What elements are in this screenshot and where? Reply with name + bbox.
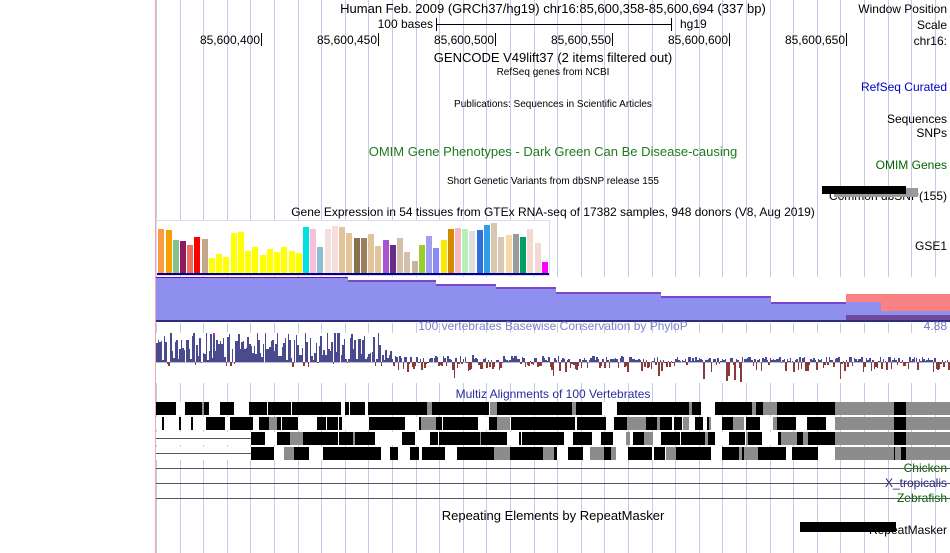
gtex-tissue-bar[interactable] <box>498 237 504 273</box>
gtex-tissue-bar[interactable] <box>397 238 403 273</box>
multiz-alignment-block <box>731 432 745 445</box>
multiz-alignment-block <box>553 432 564 445</box>
multiz-alignment-block <box>729 447 739 460</box>
multiz-alignment-block <box>473 417 478 430</box>
gtex-tissue-bar[interactable] <box>491 223 497 273</box>
multiz-row-rhesus[interactable] <box>156 402 950 415</box>
multiz-alignment-block <box>289 417 299 430</box>
conservation-peak-cap <box>277 333 279 335</box>
conservation-bar-positive <box>285 338 287 362</box>
conservation-bar-negative <box>886 362 888 370</box>
multiz-alignment-block <box>777 402 790 415</box>
multiz-alignment-block <box>522 432 534 445</box>
scale-text: 100 bases <box>156 18 433 31</box>
multiz-alignment-block <box>543 417 552 430</box>
dbsnp-feature-block[interactable] <box>822 186 906 194</box>
multiz-alignment-block <box>722 447 729 460</box>
multiz-alignment-block <box>626 432 630 445</box>
multiz-alignment-block <box>284 447 294 460</box>
multiz-alignment-block <box>220 402 233 415</box>
multiz-alignment-block <box>719 402 733 415</box>
multiz-alignment-block <box>466 447 473 460</box>
multiz-alignment-block <box>589 417 602 430</box>
multiz-alignment-block <box>763 402 777 415</box>
conservation-bar-positive <box>199 338 201 362</box>
h3k27ac-segment-top-line <box>496 287 556 289</box>
conservation-bar-positive <box>302 348 304 362</box>
conservation-bar-negative <box>458 362 460 364</box>
multiz-alignment-block <box>805 447 818 460</box>
multiz-alignment-block <box>369 432 375 445</box>
gtex-tissue-bar[interactable] <box>484 225 490 273</box>
conservation-bar-negative <box>781 362 783 363</box>
multiz-alignment-block <box>733 402 746 415</box>
h3k27ac-signal-track[interactable] <box>156 277 950 323</box>
gtex-tissue-bar[interactable] <box>267 249 273 273</box>
multiz-alignment-block <box>816 417 827 430</box>
track-label-refseq-curated[interactable]: RefSeq Curated <box>795 81 950 94</box>
track-label-gse1[interactable]: GSE1 <box>795 240 950 253</box>
conservation-bar-negative <box>655 362 657 365</box>
multiz-alignment-block <box>906 432 950 445</box>
gtex-tissue-bar[interactable] <box>158 229 164 273</box>
conservation-bar-negative <box>234 362 236 364</box>
multiz-alignment-block <box>357 447 369 460</box>
conservation-bar-negative <box>651 362 653 369</box>
conservation-bar-negative <box>716 362 718 365</box>
conservation-bar-negative <box>540 362 542 366</box>
gtex-tissue-bar[interactable] <box>325 229 331 273</box>
conservation-peak-cap <box>257 333 259 334</box>
genome-browser: Window Position Scale chr16: Human Feb. … <box>0 0 950 553</box>
conservation-bar-negative <box>827 362 829 365</box>
multiz-alignment-block <box>443 417 453 430</box>
multiz-alignment-block <box>746 417 755 430</box>
ruler-tick-mark <box>261 33 262 46</box>
multiz-alignment-block <box>282 402 291 415</box>
conservation-bar-negative <box>578 362 580 366</box>
multiz-alignment-block <box>251 447 262 460</box>
track-caption-gencode: GENCODE V49lift37 (2 items filtered out) <box>156 51 950 65</box>
multiz-alignment-block <box>781 417 796 430</box>
conservation-bar-negative <box>728 362 730 376</box>
conservation-bar-negative <box>415 362 417 366</box>
multiz-alignment-block <box>824 432 834 445</box>
conservation-bar-negative <box>864 362 866 367</box>
conservation-bar-positive <box>331 342 333 362</box>
multiz-alignment-block <box>259 417 269 430</box>
multiz-alignment-block <box>258 402 268 415</box>
multiz-alignment-block <box>516 402 528 415</box>
conservation-bar-positive <box>161 341 163 362</box>
multiz-alignment-block <box>760 447 773 460</box>
conservation-bar-negative <box>666 362 668 367</box>
multiz-row-elephant[interactable] <box>156 447 950 460</box>
multiz-alignment-block <box>418 402 425 415</box>
multiz-alignment-block <box>193 402 202 415</box>
multiz-alignment-block <box>444 432 451 445</box>
multiz-alignment-block <box>582 402 589 415</box>
conservation-bar-negative <box>168 362 170 366</box>
multiz-alignment-block <box>627 417 640 430</box>
conservation-bar-negative <box>303 362 305 366</box>
gtex-tissue-bar[interactable] <box>209 258 215 273</box>
conservation-bar-negative <box>703 362 705 379</box>
multiz-alignment-block <box>748 432 762 445</box>
h3k27ac-segment <box>348 280 436 320</box>
multiz-alignment-block <box>631 402 639 415</box>
conservation-bar-negative <box>900 362 902 363</box>
ruler-tick-mark <box>729 33 730 46</box>
multiz-alignment-block <box>473 402 482 415</box>
conservation-bar-negative <box>418 362 420 363</box>
track-caption-conservation: 100 vertebrates Basewise Conservation by… <box>156 320 950 333</box>
conservation-bar-negative <box>587 362 589 368</box>
multiz-alignment-block <box>497 417 511 430</box>
conservation-bar-negative <box>844 362 846 371</box>
multiz-alignment-block <box>681 432 690 445</box>
coordinate-ruler[interactable]: 85,600,40085,600,45085,600,50085,600,550… <box>0 33 950 49</box>
conservation-bar-negative <box>661 362 663 371</box>
multiz-alignment-block <box>807 417 816 430</box>
multiz-alignment-block <box>456 432 466 445</box>
conservation-bar-negative <box>785 362 787 371</box>
multiz-alignment-block <box>179 417 182 430</box>
conservation-bar-negative <box>917 362 919 370</box>
h3k27ac-segment-top-line <box>156 277 348 278</box>
conservation-bar-negative <box>753 362 755 366</box>
h3k27ac-segment-top-line <box>436 284 496 286</box>
multiz-alignment-block <box>590 447 604 460</box>
multiz-alignment-block <box>230 417 243 430</box>
gtex-tissue-bar[interactable] <box>383 240 389 273</box>
conservation-bar-negative <box>604 362 606 368</box>
multiz-alignment-block <box>327 402 341 415</box>
conservation-bar-negative <box>201 362 203 363</box>
conservation-bar-negative <box>195 362 197 365</box>
multiz-alignment-block <box>676 447 689 460</box>
multiz-alignment-block <box>332 432 339 445</box>
gtex-tissue-bar[interactable] <box>375 246 381 273</box>
multiz-alignment-block <box>473 447 484 460</box>
conservation-bar-negative <box>454 362 456 378</box>
multiz-alignment-block <box>384 417 392 430</box>
conservation-bar-negative <box>533 362 535 365</box>
multiz-alignment-block <box>666 447 677 460</box>
multiz-alignment-block <box>906 402 950 415</box>
conservation-bar-negative <box>833 362 835 367</box>
multiz-alignment-block <box>452 417 461 430</box>
multiz-alignment-block <box>462 402 473 415</box>
ruler-tick-label: 85,600,500 <box>434 34 494 47</box>
conservation-bar-negative <box>609 362 611 368</box>
track-label-snps[interactable]: SNPs <box>795 127 950 140</box>
scale-bar <box>436 18 672 31</box>
conservation-bar-negative <box>581 362 583 368</box>
multiz-alignment-block <box>654 447 665 460</box>
multiz-alignment-block <box>602 417 606 430</box>
multiz-alignment-block <box>494 447 504 460</box>
assembly-title: Human Feb. 2009 (GRCh37/hg19) chr16:85,6… <box>156 2 950 16</box>
conservation-bar-negative <box>446 362 448 366</box>
multiz-alignment-block <box>708 432 716 445</box>
track-caption-refseq: RefSeq genes from NCBI <box>156 67 950 78</box>
multiz-alignment-block <box>835 432 895 445</box>
track-label-omim-genes[interactable]: OMIM Genes <box>795 159 950 172</box>
conservation-bar-positive <box>373 337 375 362</box>
multiz-alignment-block <box>776 447 786 460</box>
multiz-alignment-block <box>407 402 416 415</box>
conservation-bar-positive <box>229 334 231 362</box>
multiz-alignment-block <box>660 417 673 430</box>
ruler-tick-mark <box>495 33 496 46</box>
multiz-alignment-block <box>243 417 253 430</box>
multiz-alignment-block <box>311 432 320 445</box>
gtex-tissue-bar[interactable] <box>332 226 338 273</box>
multiz-alignment-block <box>496 432 507 445</box>
multiz-alignment-block <box>577 417 589 430</box>
multiz-alignment-block <box>282 417 289 430</box>
scale-label: Scale <box>795 19 950 32</box>
multiz-alignment-block <box>604 447 611 460</box>
gtex-tissue-bar[interactable] <box>339 227 345 273</box>
gtex-tissue-bar[interactable] <box>296 253 302 273</box>
gtex-tissue-bar[interactable] <box>404 252 410 273</box>
gtex-expression-barchart[interactable] <box>156 220 550 276</box>
gtex-tissue-bar[interactable] <box>469 231 475 273</box>
multiz-alignment-block <box>377 402 387 415</box>
multiz-alignment-block <box>517 417 529 430</box>
track-label-sequences[interactable]: Sequences <box>795 113 950 126</box>
multiz-alignment-block <box>421 417 435 430</box>
multiz-alignment-block <box>533 447 543 460</box>
gtex-tissue-bar[interactable] <box>419 245 425 273</box>
multiz-alignment-block <box>294 447 309 460</box>
multiz-alignment-block <box>339 432 354 445</box>
gtex-tissue-bar[interactable] <box>173 240 179 273</box>
multiz-alignment-block <box>733 417 744 430</box>
multiz-alignment-block <box>292 432 303 445</box>
multiz-alignment-block <box>268 402 283 415</box>
conservation-bar-negative <box>847 362 849 367</box>
gtex-tissue-bar[interactable] <box>368 234 374 273</box>
conservation-bar-negative <box>333 362 335 364</box>
multiz-alignment-block <box>683 417 690 430</box>
multiz-alignment-block <box>667 432 675 445</box>
gtex-tissue-bar[interactable] <box>252 247 258 273</box>
multiz-alignment-block <box>722 417 733 430</box>
conservation-bar-negative <box>403 362 405 369</box>
gtex-tissue-bar[interactable] <box>346 233 352 273</box>
gtex-tissue-bar[interactable] <box>281 247 287 273</box>
gtex-tissue-bar[interactable] <box>513 234 519 273</box>
track-caption-multiz: Multiz Alignments of 100 Vertebrates <box>156 388 950 401</box>
multiz-alignment-block <box>392 417 405 430</box>
gtex-tissue-bar[interactable] <box>520 237 526 273</box>
multiz-alignment-block <box>315 402 327 415</box>
gtex-tissue-bar[interactable] <box>194 237 200 273</box>
multiz-row-dog[interactable] <box>156 432 950 445</box>
multiz-alignment-block <box>251 432 264 445</box>
ruler-tick-label: 85,600,600 <box>668 34 728 47</box>
conservation-bar-negative <box>627 362 629 372</box>
conservation-bar-negative <box>489 362 491 367</box>
conservation-bar-negative <box>292 362 294 367</box>
multiz-alignment-block <box>262 447 275 460</box>
gtex-tissue-bar[interactable] <box>260 255 266 273</box>
conservation-bar-negative <box>375 362 377 366</box>
h3k27ac-segment <box>436 284 496 320</box>
multiz-alignment-block <box>341 417 342 430</box>
multiz-alignment-block <box>302 402 315 415</box>
gtex-tissue-bar[interactable] <box>390 245 396 273</box>
gtex-tissue-bar[interactable] <box>238 232 244 273</box>
conservation-bar-negative <box>486 362 488 368</box>
multiz-alignment-block <box>303 432 311 445</box>
gtex-tissue-bar[interactable] <box>441 240 447 273</box>
multiz-alignment-block <box>410 447 419 460</box>
phylop-conservation-track[interactable] <box>156 333 950 383</box>
h3k27ac-segment <box>661 296 771 320</box>
gtex-tissue-bar[interactable] <box>202 239 208 273</box>
gtex-tissue-bar[interactable] <box>448 229 454 273</box>
h3k27ac-segment-top-line <box>771 302 846 304</box>
conservation-bar-negative <box>674 362 676 366</box>
multiz-alignment-block <box>578 432 592 445</box>
ruler-tick-mark <box>612 33 613 46</box>
gtex-tissue-bar[interactable] <box>317 247 323 273</box>
gtex-tissue-bar[interactable] <box>477 230 483 273</box>
ruler-tick-label: 85,600,450 <box>317 34 377 47</box>
conservation-bar-negative <box>520 362 522 364</box>
conservation-bar-negative <box>877 362 879 368</box>
gtex-tissue-bar[interactable] <box>166 230 172 273</box>
multiz-alignment-block <box>430 432 438 445</box>
conservation-bar-negative <box>881 362 883 369</box>
multiz-row-xtropicalis-line[interactable] <box>156 483 950 484</box>
conservation-bar-negative <box>908 362 910 369</box>
conservation-bar-positive <box>165 342 167 362</box>
conservation-bar-negative <box>801 362 803 369</box>
multiz-alignment-block <box>835 417 895 430</box>
gtex-tissue-bar[interactable] <box>303 227 309 273</box>
conservation-bar-negative <box>734 362 736 380</box>
multiz-alignment-block <box>633 432 644 445</box>
ruler-tick-mark <box>378 33 379 46</box>
multiz-alignment-block <box>434 402 444 415</box>
multiz-alignment-block <box>906 447 950 460</box>
multiz-row-zebrafish-line[interactable] <box>156 498 950 499</box>
repeatmasker-feature-block[interactable] <box>800 522 896 532</box>
gtex-tissue-bar[interactable] <box>231 233 237 273</box>
multiz-alignment-block <box>648 402 659 415</box>
multiz-alignment-block <box>165 402 174 415</box>
gtex-tissue-bar[interactable] <box>361 238 367 273</box>
gtex-tissue-bar[interactable] <box>187 245 193 273</box>
gtex-tissue-bar[interactable] <box>245 251 251 273</box>
multiz-alignment-block <box>396 402 406 415</box>
multiz-alignment-block <box>293 402 303 415</box>
conservation-bar-negative <box>601 362 603 366</box>
gtex-tissue-bar[interactable] <box>455 228 461 273</box>
conservation-bar-negative <box>347 362 349 363</box>
multiz-alignment-block <box>628 447 642 460</box>
gtex-tissue-bar[interactable] <box>223 257 229 273</box>
multiz-alignment-block <box>543 447 554 460</box>
conservation-bar-negative <box>398 362 400 370</box>
gtex-tissue-bar[interactable] <box>180 241 186 273</box>
gtex-tissue-bar[interactable] <box>289 251 295 273</box>
gtex-tissue-bar[interactable] <box>542 262 548 273</box>
conservation-bar-negative <box>618 362 620 368</box>
multiz-row-chicken-line[interactable] <box>156 468 950 469</box>
gtex-tissue-bar[interactable] <box>462 229 468 273</box>
track-caption-publications: Publications: Sequences in Scientific Ar… <box>156 99 950 110</box>
multiz-alignment-block <box>794 447 804 460</box>
conservation-bar-positive <box>193 333 195 362</box>
multiz-alignment-block <box>644 432 654 445</box>
gtex-tissue-bar[interactable] <box>354 238 360 273</box>
conservation-bar-positive <box>316 343 318 362</box>
dbsnp-feature-row[interactable] <box>0 185 950 199</box>
multiz-alignment-block <box>562 402 572 415</box>
multiz-row-mouse[interactable] <box>156 417 950 430</box>
conservation-bar-negative <box>230 362 232 366</box>
conservation-bar-negative <box>711 362 713 372</box>
multiz-alignment-block <box>343 447 357 460</box>
multiz-alignment-block <box>835 402 895 415</box>
gtex-tissue-bar[interactable] <box>527 229 533 273</box>
conservation-bar-negative <box>809 362 811 365</box>
multiz-alignment-block <box>510 447 523 460</box>
gtex-tissue-bar[interactable] <box>274 252 280 273</box>
multiz-alignment-block <box>457 447 466 460</box>
gtex-tissue-bar[interactable] <box>412 261 418 273</box>
conservation-bar-negative <box>793 362 795 372</box>
multiz-alignment-block <box>481 432 489 445</box>
conservation-bar-negative <box>719 362 721 364</box>
gtex-tissue-bar[interactable] <box>506 235 512 273</box>
gtex-tissue-bar[interactable] <box>426 236 432 273</box>
repeatmasker-feature-row[interactable] <box>0 520 950 534</box>
conservation-bar-negative <box>461 362 463 364</box>
gtex-tissue-bar[interactable] <box>216 254 222 273</box>
multiz-alignment-block <box>601 432 613 445</box>
multiz-alignment-block <box>533 432 542 445</box>
conservation-bar-negative <box>798 362 800 370</box>
gtex-tissue-bar[interactable] <box>433 248 439 273</box>
ruler-tick-label: 85,600,400 <box>200 34 260 47</box>
multiz-alignment-block <box>508 402 516 415</box>
conservation-bar-negative <box>471 362 473 369</box>
conservation-bar-negative <box>940 362 942 364</box>
conservation-bar-negative <box>768 362 770 365</box>
conservation-bar-negative <box>756 362 758 370</box>
gtex-baseline <box>157 273 549 275</box>
multiz-alignment-block <box>677 402 689 415</box>
multiz-alignment-block <box>390 447 398 460</box>
gtex-tissue-bar[interactable] <box>310 229 316 273</box>
conservation-bar-negative <box>226 362 228 366</box>
gtex-tissue-bar[interactable] <box>535 243 541 273</box>
conservation-bar-positive <box>379 345 381 362</box>
multiz-alignment-block <box>709 417 712 430</box>
multiz-alignment-block <box>646 417 657 430</box>
assembly-short: hg19 <box>680 18 800 31</box>
conservation-bar-negative <box>641 362 643 371</box>
multiz-gap-line <box>156 438 251 439</box>
conservation-bar-negative <box>317 362 319 363</box>
